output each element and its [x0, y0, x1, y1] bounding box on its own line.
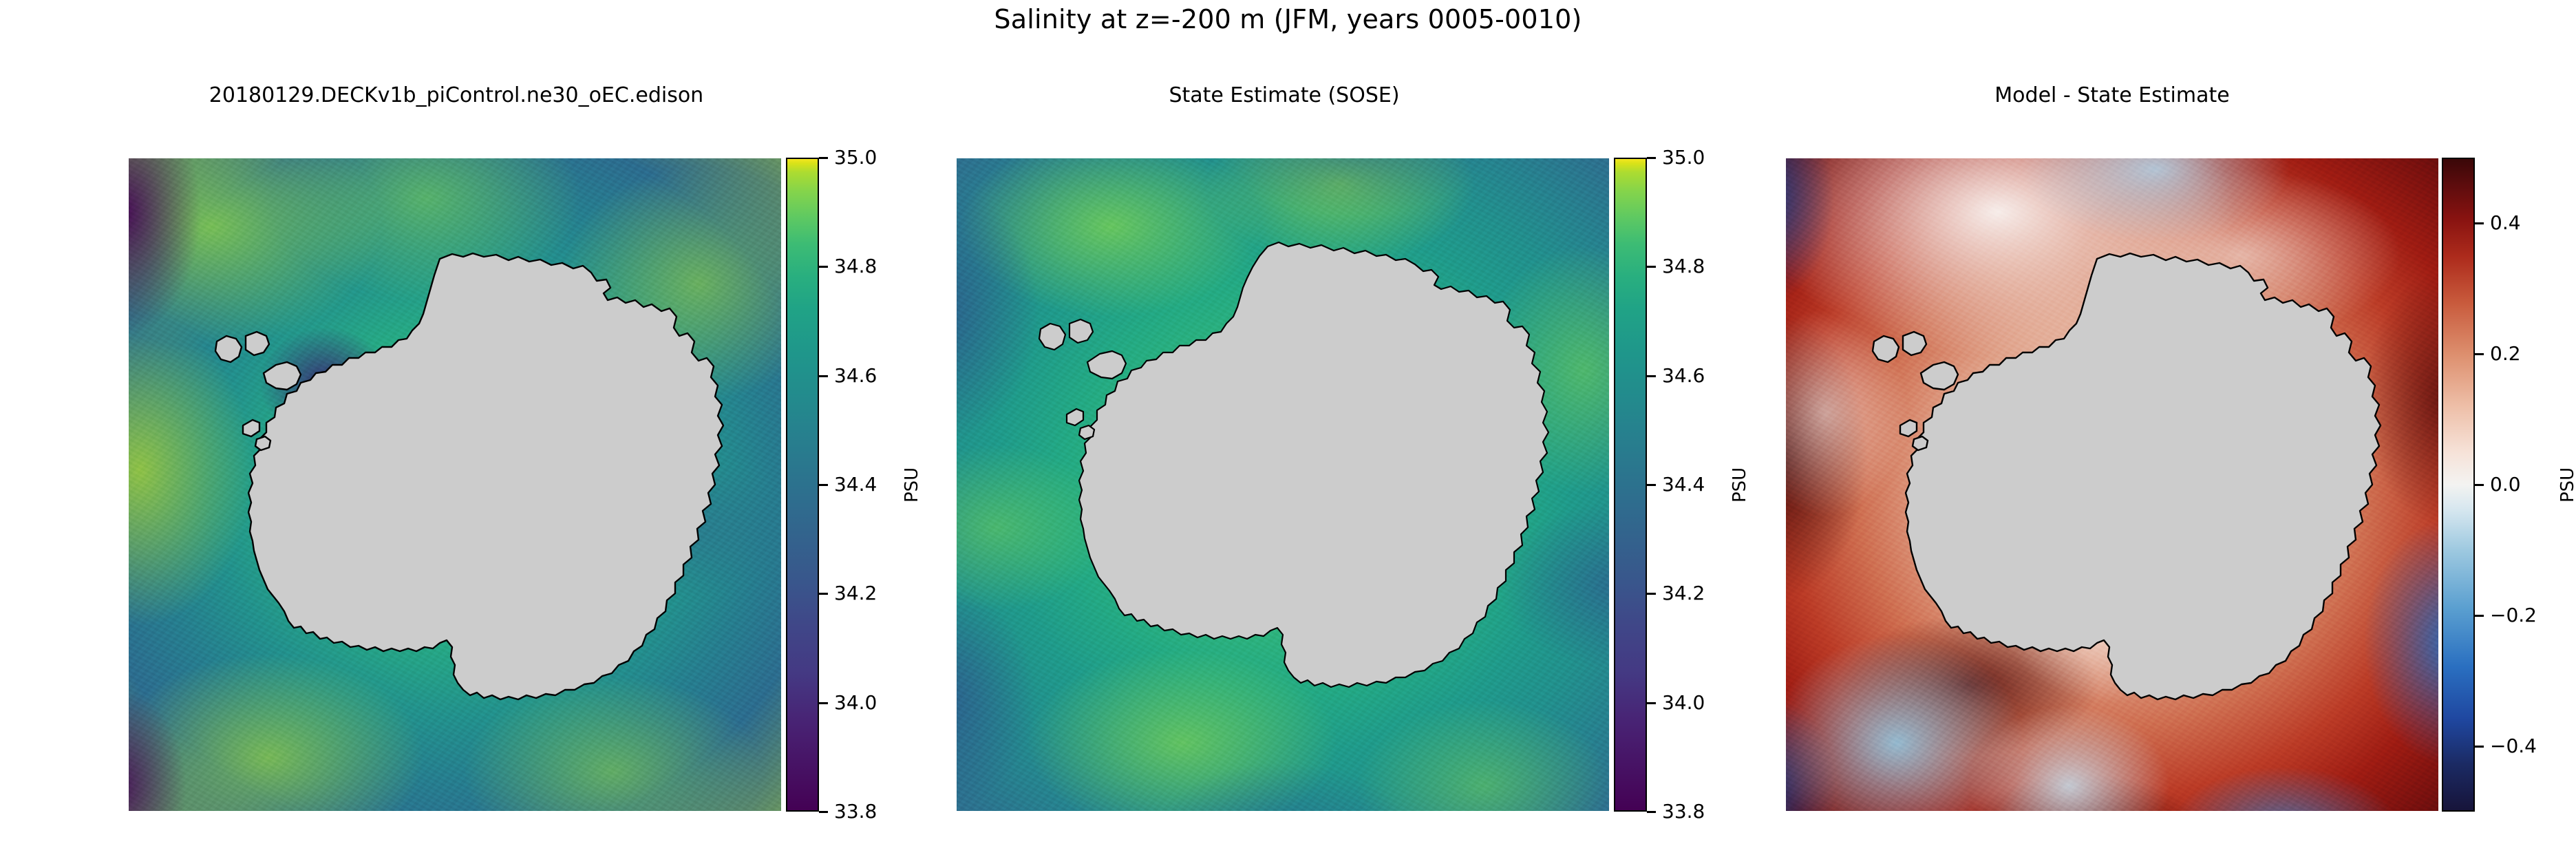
colorbar-tick-label: 34.2 — [834, 579, 877, 608]
colorbar-axis-label-difference: PSU — [2557, 467, 2576, 503]
colorbar-tick-label: 34.8 — [834, 252, 877, 281]
colorbar-model[interactable] — [786, 158, 819, 812]
colorbar-tick-label: 33.8 — [834, 797, 877, 826]
colorbar-tick-label: 0.4 — [2490, 209, 2521, 237]
colorbar-tick-label: 34.8 — [1662, 252, 1705, 281]
colorbar-tick-label: 33.8 — [1662, 797, 1705, 826]
antarctica-landmass-model — [129, 158, 781, 811]
antarctica-landmass-difference — [1786, 158, 2438, 811]
colorbar-tick-label: 34.2 — [1662, 579, 1705, 608]
colorbar-axis-label-state-estimate: PSU — [1729, 467, 1750, 503]
colorbar-tick-label: 0.2 — [2490, 339, 2521, 368]
panel-title-difference: Model - State Estimate — [1658, 83, 2566, 109]
colorbar-tick-label: −0.4 — [2490, 732, 2537, 761]
colorbar-tick-label: 0.0 — [2490, 470, 2521, 499]
antarctica-landmass-sose — [957, 158, 1609, 811]
map-panel-model[interactable] — [129, 158, 781, 811]
colorbar-tick-label: 35.0 — [834, 143, 877, 172]
colorbar-tick-label: −0.2 — [2490, 601, 2537, 630]
map-panel-state-estimate[interactable] — [957, 158, 1609, 811]
colorbar-tick-label: 34.4 — [1662, 470, 1705, 499]
map-panel-difference[interactable] — [1786, 158, 2438, 811]
figure-canvas: Salinity at z=-200 m (JFM, years 0005-00… — [0, 0, 2576, 855]
colorbar-tick-label: 34.6 — [1662, 361, 1705, 390]
colorbar-tick-label: 34.6 — [834, 361, 877, 390]
colorbar-state-estimate[interactable] — [1614, 158, 1647, 812]
colorbar-axis-label-model: PSU — [902, 467, 922, 503]
panel-title-state-estimate: State Estimate (SOSE) — [830, 83, 1738, 109]
colorbar-tick-label: 34.4 — [834, 470, 877, 499]
panel-title-model: 20180129.DECKv1b_piControl.ne30_oEC.edis… — [2, 83, 911, 109]
colorbar-tick-label: 34.0 — [1662, 688, 1705, 717]
colorbar-difference[interactable] — [2442, 158, 2475, 812]
colorbar-tick-label: 35.0 — [1662, 143, 1705, 172]
colorbar-tick-label: 34.0 — [834, 688, 877, 717]
figure-suptitle: Salinity at z=-200 m (JFM, years 0005-00… — [0, 3, 2576, 36]
